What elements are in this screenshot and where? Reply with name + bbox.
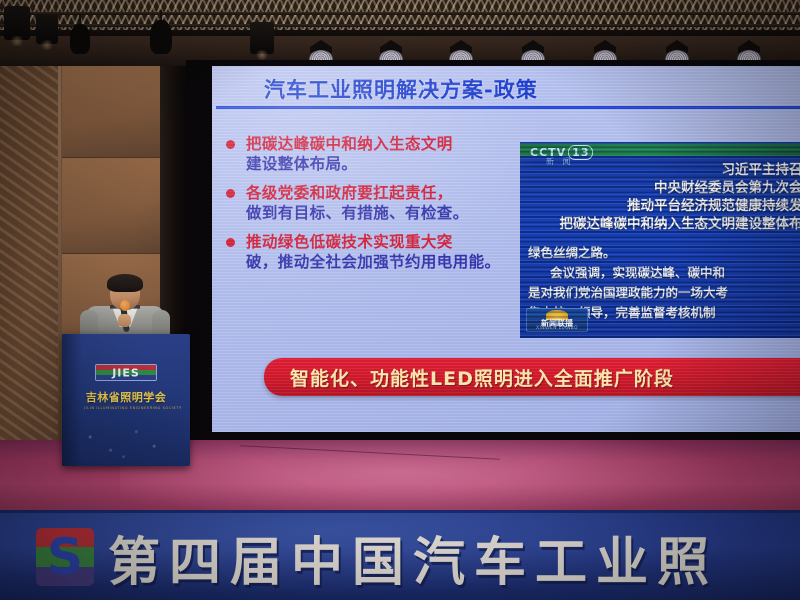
tv-body-line: 是对我们党治国理政能力的一场大考 <box>528 284 800 301</box>
tv-headline: 推动平台经济规范健康持续发展 <box>526 198 800 216</box>
bullet-item: 把碳达峰碳中和纳入生态文明 建设整体布局。 <box>224 134 524 175</box>
bullet-rest-text: 破，推动全社会加强节约用电用能。 <box>246 253 500 271</box>
podium-sign: JIES 吉林省照明学会 JILIN ILLUMINATING ENGINEER… <box>84 364 168 410</box>
bullet-dot-icon <box>226 140 235 149</box>
ceiling-beam <box>0 24 800 27</box>
moving-head-light-icon <box>36 14 58 44</box>
ceiling-beam <box>0 12 800 15</box>
bullet-highlight-text: 各级党委和政府要扛起责任， <box>246 184 453 202</box>
bullet-dot-icon <box>226 189 235 198</box>
bullet-rest-text: 建设整体布局。 <box>246 155 357 173</box>
xinwen-lianbo-badge: 新闻联播 XINWEN LIANBO <box>526 308 588 332</box>
speaker-hair <box>107 274 143 292</box>
xinwen-lianbo-en: XINWEN LIANBO <box>527 326 587 331</box>
bullet-item: 各级党委和政府要扛起责任， 做到有目标、有措施、有检查。 <box>224 183 524 224</box>
tv-body-line: 绿色丝绸之路。 <box>528 244 800 261</box>
podium-org-name-cn: 吉林省照明学会 <box>84 389 168 405</box>
wall-panel <box>62 66 160 158</box>
slide-bullet-list: 把碳达峰碳中和纳入生态文明 建设整体布局。 各级党委和政府要扛起责任， 做到有目… <box>224 134 524 281</box>
speaker-hand <box>118 314 131 327</box>
conference-photo-scene: 汽车工业照明解决方案-政策 把碳达峰碳中和纳入生态文明 建设整体布局。 各级党委… <box>0 0 800 600</box>
jies-logo-text: JIES <box>96 366 156 379</box>
bullet-rest-text: 做到有目标、有措施、有检查。 <box>246 204 469 222</box>
bullet-dot-icon <box>226 238 235 247</box>
cctv-news-screenshot: CCTV13 新 闻 习近平主持召开 中央财经委员会第九次会议 推动平台经济规范… <box>520 142 800 338</box>
podium-side-shading <box>62 334 82 466</box>
event-logo: S <box>36 528 94 586</box>
tv-headline: 习近平主持召开 <box>526 162 800 180</box>
bullet-highlight-text: 把碳达峰碳中和纳入生态文明 <box>246 135 453 153</box>
slide-title: 汽车工业照明解决方案-政策 <box>264 74 784 104</box>
red-banner-text: 智能化、功能性LED照明进入全面推广阶段 <box>290 364 674 391</box>
bullet-highlight-text: 推动绿色低碳技术实现重大突 <box>246 233 453 251</box>
logo-letter: S <box>36 532 94 582</box>
slide-red-banner: 智能化、功能性LED照明进入全面推广阶段 <box>264 358 800 396</box>
microphone-head-icon <box>120 300 130 311</box>
tv-body-line: 会议强调，实现碳达峰、碳中和 <box>528 264 800 281</box>
moving-head-light-icon <box>4 6 30 40</box>
title-divider <box>216 106 800 109</box>
speaker-person <box>76 276 174 338</box>
hanging-light-icon <box>150 20 172 54</box>
podium-org-name-en: JILIN ILLUMINATING ENGINEERING SOCIETY <box>84 406 168 410</box>
moving-head-light-icon <box>250 22 274 54</box>
tv-headline: 中央财经委员会第九次会议 <box>526 180 800 198</box>
bullet-item: 推动绿色低碳技术实现重大突 破，推动全社会加强节约用电用能。 <box>224 232 524 273</box>
wall-panel <box>62 158 160 254</box>
stage-light-glare <box>120 440 740 520</box>
tv-headline: 把碳达峰碳中和纳入生态文明建设整体布局 <box>526 216 800 234</box>
hanging-light-icon <box>70 24 90 54</box>
jies-logo: JIES <box>95 364 157 381</box>
presentation-slide: 汽车工业照明解决方案-政策 把碳达峰碳中和纳入生态文明 建设整体布局。 各级党委… <box>212 66 800 432</box>
event-banner-title: 第四届中国汽车工业照 <box>108 520 718 595</box>
